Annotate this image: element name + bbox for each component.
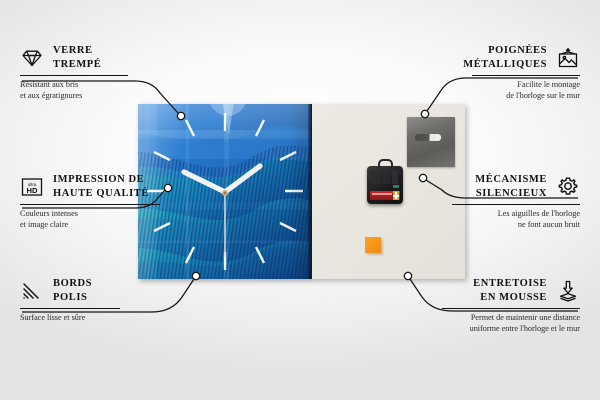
callout-subtitle: Résistant aux bris et aux égratignures xyxy=(20,80,128,101)
callout-verre-trempe: VERRE TREMPÉ Résistant aux bris et aux é… xyxy=(20,44,128,101)
hanger-keyhole-slot xyxy=(415,134,441,141)
callout-rule xyxy=(20,75,128,76)
spacer-layers-down-arrow-icon xyxy=(556,279,580,303)
callout-rule xyxy=(472,75,580,76)
aa-battery xyxy=(370,191,400,200)
callout-title: IMPRESSION DE HAUTE QUALITÉ xyxy=(53,173,149,201)
metal-hanger-plate xyxy=(407,117,455,167)
callout-subtitle: Surface lisse et sûre xyxy=(20,313,120,324)
callout-poignees-metalliques: POIGNÉES MÉTALLIQUES Facilite le montage… xyxy=(472,44,580,101)
movement-label-print xyxy=(371,171,398,184)
orange-foam-spacer xyxy=(365,237,381,253)
infographic-canvas: VERRE TREMPÉ Résistant aux bris et aux é… xyxy=(0,0,600,400)
callout-title: POIGNÉES MÉTALLIQUES xyxy=(463,44,547,72)
ultra-hd-icon: ultra HD xyxy=(20,175,44,199)
callout-rule xyxy=(20,308,120,309)
movement-teal-mark xyxy=(393,185,399,188)
callout-header: BORDS POLIS xyxy=(20,277,120,305)
callout-title: VERRE TREMPÉ xyxy=(53,44,101,72)
diamond-icon xyxy=(20,46,44,70)
battery-plus-terminal xyxy=(393,191,399,200)
gear-icon xyxy=(556,175,580,199)
quartz-movement-box xyxy=(367,166,403,204)
product-image xyxy=(138,104,465,279)
callout-subtitle: Permet de maintenir une distance uniform… xyxy=(442,313,580,334)
clock-front-face xyxy=(138,104,312,279)
callout-title: ENTRETOISE EN MOUSSE xyxy=(473,277,547,305)
clock-hands xyxy=(138,104,312,279)
movement-hanging-loop xyxy=(378,159,393,169)
callout-rule xyxy=(452,204,580,205)
callout-impression-haute-qualite: ultra HD IMPRESSION DE HAUTE QUALITÉ Cou… xyxy=(20,173,160,230)
callout-header: VERRE TREMPÉ xyxy=(20,44,128,72)
callout-entretoise-en-mousse: ENTRETOISE EN MOUSSE Permet de maintenir… xyxy=(442,277,580,334)
callout-header: POIGNÉES MÉTALLIQUES xyxy=(472,44,580,72)
callout-rule xyxy=(442,308,580,309)
callout-bords-polis: BORDS POLIS Surface lisse et sûre xyxy=(20,277,120,324)
callout-title: BORDS POLIS xyxy=(53,277,92,305)
svg-text:HD: HD xyxy=(27,186,38,195)
callout-subtitle: Facilite le montage de l'horloge sur le … xyxy=(472,80,580,101)
clock-back-panel xyxy=(312,104,465,279)
callout-title: MÉCANISME SILENCIEUX xyxy=(475,173,547,201)
callout-header: ultra HD IMPRESSION DE HAUTE QUALITÉ xyxy=(20,173,160,201)
callout-subtitle: Les aiguilles de l'horloge ne font aucun… xyxy=(452,209,580,230)
callout-subtitle: Couleurs intenses et image claire xyxy=(20,209,160,230)
battery-label-line xyxy=(372,193,392,195)
callout-header: MÉCANISME SILENCIEUX xyxy=(452,173,580,201)
callout-header: ENTRETOISE EN MOUSSE xyxy=(442,277,580,305)
picture-frame-hanging-icon xyxy=(556,46,580,70)
callout-rule xyxy=(20,204,160,205)
callout-mecanisme-silencieux: MÉCANISME SILENCIEUX Les aiguilles de l'… xyxy=(452,173,580,230)
polished-edge-lines-icon xyxy=(20,279,44,303)
